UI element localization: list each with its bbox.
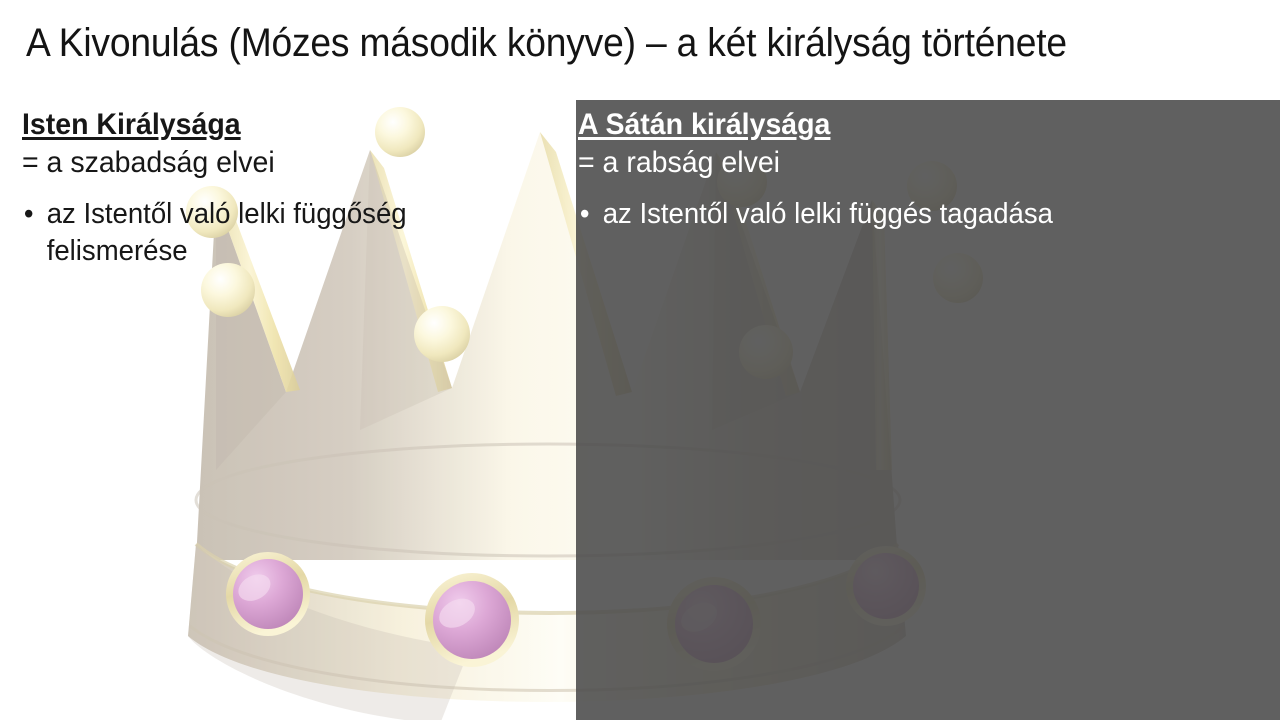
bullet-point-icon: • [580,196,590,233]
list-item: • az Istentől való lelki függés tagadása [578,196,1234,233]
list-item-label: az Istentől való lelki függőség felismer… [47,198,407,267]
right-column-subtitle: = a rabság elvei [578,144,1234,182]
right-column-heading: A Sátán királysága [578,106,1234,144]
left-column-heading: Isten Királysága [22,106,535,144]
list-item: • az Istentől való lelki függőség felism… [22,196,493,270]
list-item-label: az Istentől való lelki függés tagadása [603,198,1053,230]
left-column: Isten Királysága = a szabadság elvei • a… [22,106,562,270]
left-column-subtitle: = a szabadság elvei [22,144,535,182]
bullet-point-icon: • [24,196,34,233]
right-column: A Sátán királysága = a rabság elvei • az… [578,106,1268,233]
left-column-bullet-list: • az Istentől való lelki függőség felism… [22,196,562,270]
right-column-bullet-list: • az Istentől való lelki függés tagadása [578,196,1268,233]
slide-title: A Kivonulás (Mózes második könyve) – a k… [26,16,1161,70]
slide-canvas: A Kivonulás (Mózes második könyve) – a k… [0,0,1280,720]
